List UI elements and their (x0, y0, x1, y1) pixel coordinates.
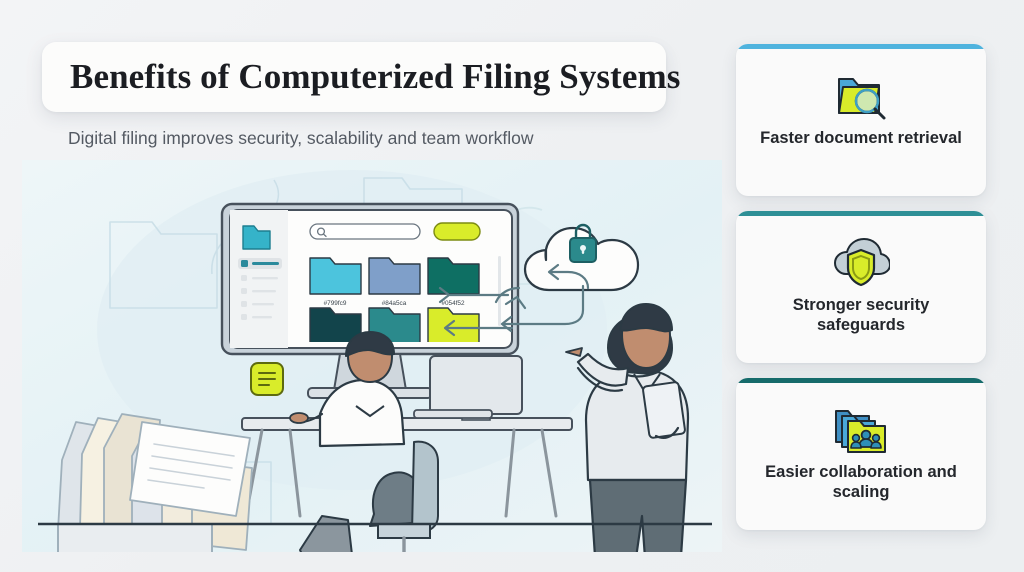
folder-search-icon (833, 68, 889, 122)
title-card: Benefits of Computerized Filing Systems (42, 42, 666, 112)
page-subtitle: Digital filing improves security, scalab… (68, 128, 534, 149)
svg-text:#054f52: #054f52 (441, 300, 465, 307)
benefit-cards: Faster document retrieval Stronger secur… (736, 44, 986, 545)
desk-monitor (414, 356, 522, 420)
card-accent-2 (736, 211, 986, 216)
sticky-note-icon (251, 363, 283, 395)
cloud-shield-icon (832, 235, 890, 289)
page-title: Benefits of Computerized Filing Systems (70, 57, 681, 97)
card-accent-1 (736, 44, 986, 49)
svg-text:#84a5ca: #84a5ca (382, 300, 407, 307)
card-accent-3 (736, 378, 986, 383)
slide-canvas: Benefits of Computerized Filing Systems … (0, 0, 1024, 572)
illustration: #799fc9 #84a5ca #054f52 #054f52 #268589 (22, 160, 722, 552)
svg-text:#799fc9: #799fc9 (324, 300, 347, 307)
benefit-card-3-label: Easier collaboration and scaling (736, 462, 986, 503)
benefit-card-2-label: Stronger security safeguards (736, 295, 986, 336)
folders-people-icon (832, 402, 890, 456)
screen-search-bar (310, 223, 480, 240)
benefit-card-1[interactable]: Faster document retrieval (736, 44, 986, 196)
benefit-card-1-label: Faster document retrieval (744, 128, 978, 148)
benefit-card-2[interactable]: Stronger security safeguards (736, 211, 986, 363)
physical-file-box (58, 414, 252, 552)
benefit-card-3[interactable]: Easier collaboration and scaling (736, 378, 986, 530)
